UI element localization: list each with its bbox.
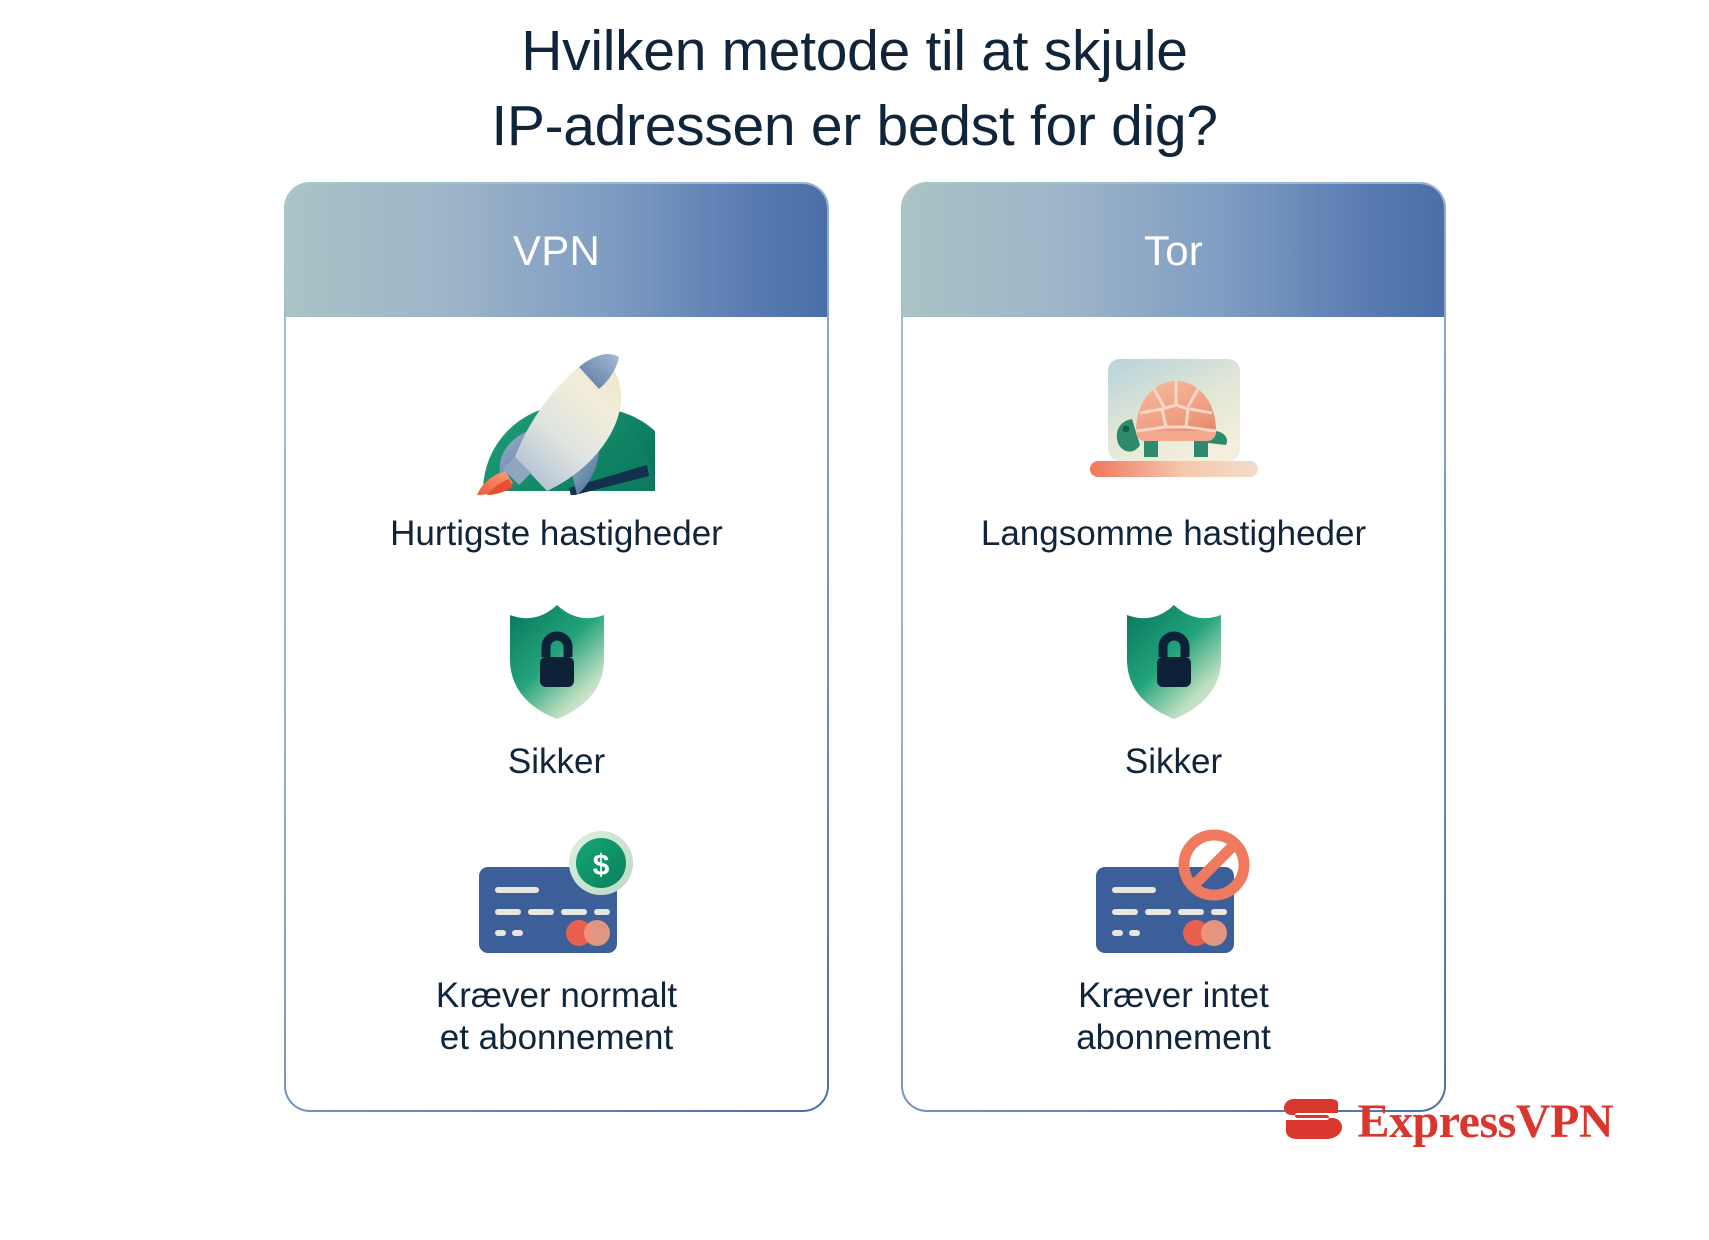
feature-tor-secure-label: Sikker	[1125, 741, 1222, 783]
card-vpn-header: VPN	[286, 184, 827, 317]
infographic-page: Hvilken metode til at skjule IP-adressen…	[0, 0, 1709, 1240]
feature-vpn-payment-label: Kræver normalt et abonnement	[436, 975, 677, 1059]
expressvpn-logo: ExpressVPN	[1282, 1093, 1613, 1150]
feature-tor-speed-label: Langsomme hastigheder	[981, 513, 1366, 555]
page-title-line-1: Hvilken metode til at skjule	[0, 14, 1709, 89]
card-tor-header: Tor	[903, 184, 1444, 317]
expressvpn-wordmark: ExpressVPN	[1358, 1098, 1613, 1146]
card-vpn-body: Hurtigste hastigheder	[286, 317, 827, 1110]
feature-tor-payment-label: Kræver intet abonnement	[1076, 975, 1271, 1059]
rocket-speedometer-icon	[451, 345, 663, 495]
feature-vpn-speed-label: Hurtigste hastigheder	[390, 513, 723, 555]
comparison-cards: VPN	[284, 182, 1446, 1112]
page-title: Hvilken metode til at skjule IP-adressen…	[0, 14, 1709, 164]
card-vpn: VPN	[284, 182, 829, 1112]
shield-lock-icon	[1119, 599, 1229, 721]
credit-card-dollar-icon: $	[471, 829, 643, 959]
page-title-line-2: IP-adressen er bedst for dig?	[0, 89, 1709, 164]
feature-vpn-payment: $ Kræver normalt et abonnement	[286, 783, 827, 1059]
shield-lock-icon	[502, 599, 612, 721]
feature-tor-payment: Kræver intet abonnement	[903, 783, 1444, 1059]
feature-tor-speed: Langsomme hastigheder	[903, 317, 1444, 555]
feature-vpn-secure: Sikker	[286, 555, 827, 783]
card-tor-title: Tor	[1144, 227, 1203, 275]
card-tor: Tor	[901, 182, 1446, 1112]
expressvpn-swoosh-icon	[1282, 1093, 1344, 1150]
card-tor-body: Langsomme hastigheder	[903, 317, 1444, 1110]
card-vpn-title: VPN	[513, 227, 600, 275]
turtle-laptop-icon	[1074, 345, 1274, 495]
feature-vpn-speed: Hurtigste hastigheder	[286, 317, 827, 555]
credit-card-prohibited-icon	[1088, 829, 1260, 959]
feature-vpn-secure-label: Sikker	[508, 741, 605, 783]
svg-text:$: $	[592, 849, 609, 882]
feature-tor-secure: Sikker	[903, 555, 1444, 783]
